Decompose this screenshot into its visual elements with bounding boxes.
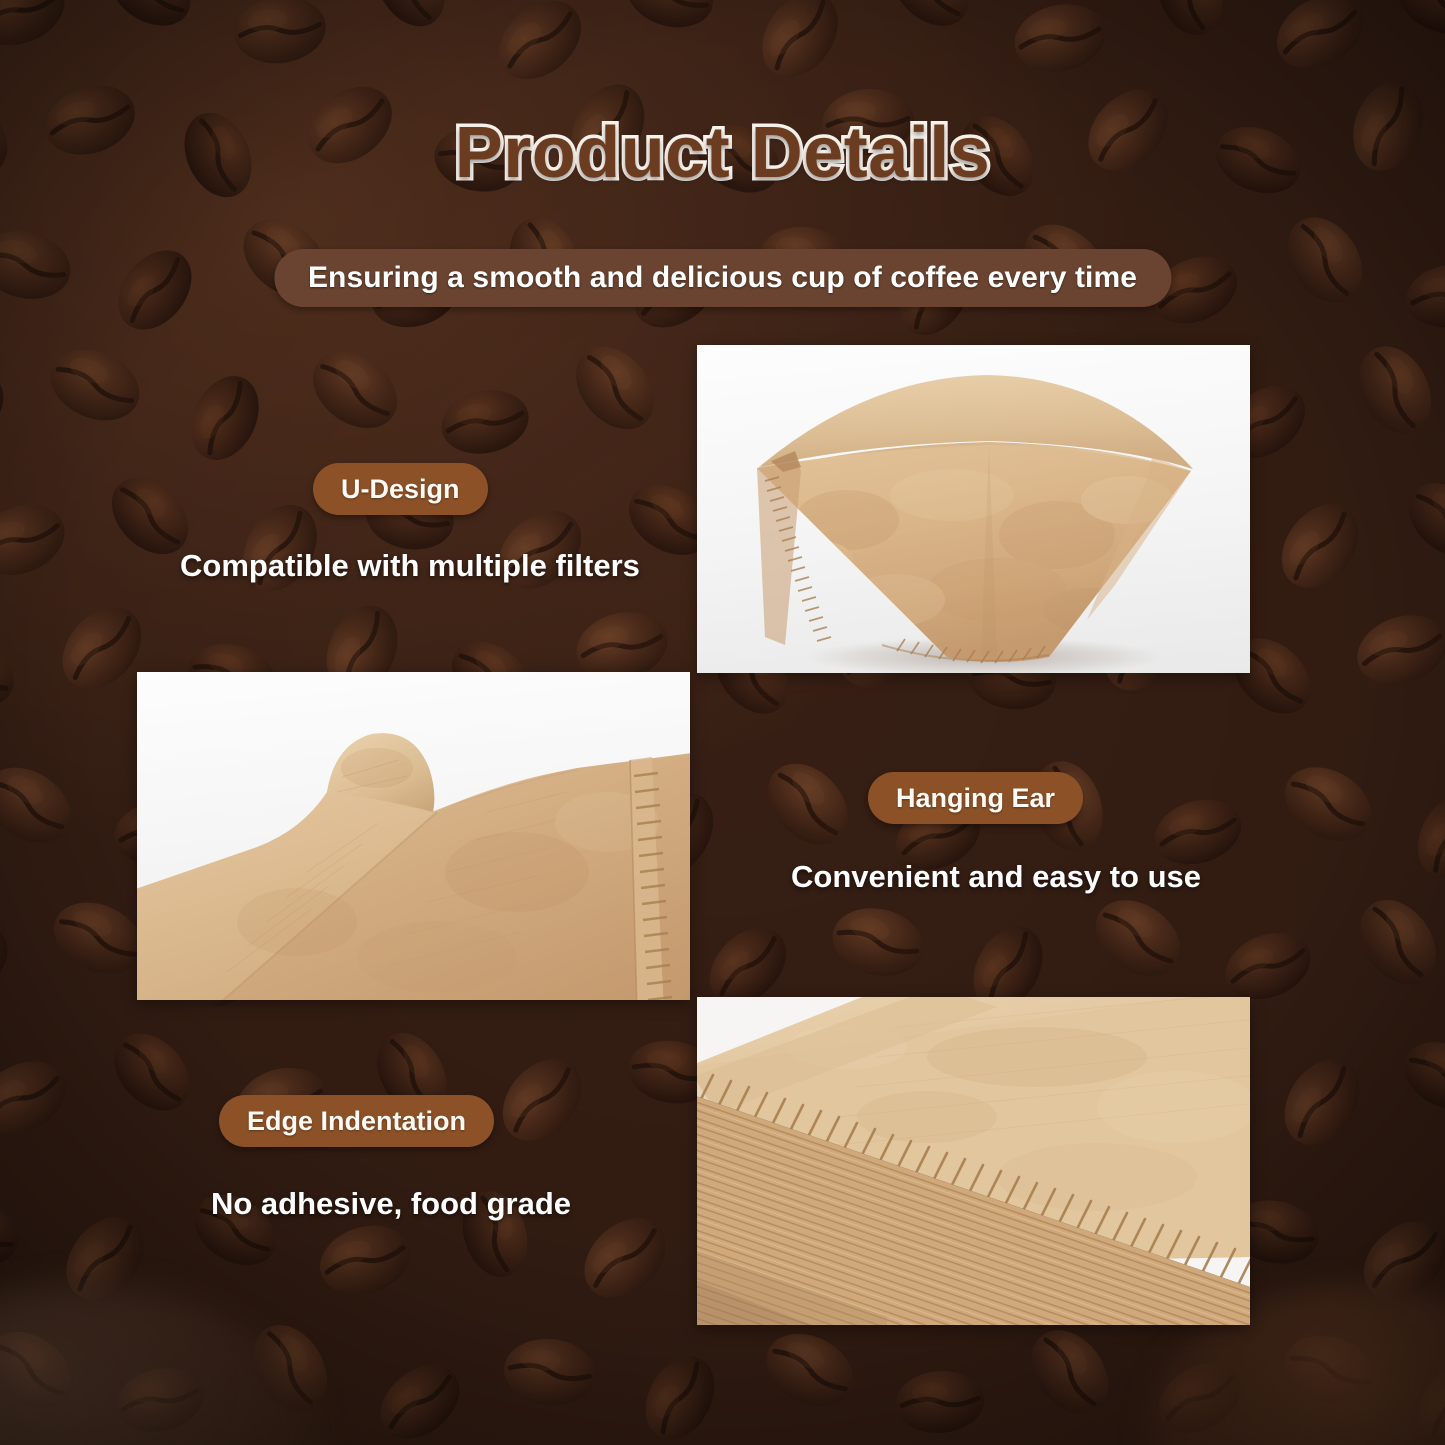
stacked-filters-edge-photo [697,997,1250,1325]
subtitle-text: Ensuring a smooth and delicious cup of c… [308,261,1137,295]
product-details-infographic: Product Details Ensuring a smooth and de… [0,0,1445,1445]
feature-label-text: U-Design [341,474,460,505]
feature-photo-panel-hanging-ear [137,672,690,1000]
feature-photo-panel-u-design [697,345,1250,673]
page-title: Product Details [0,112,1445,194]
feature-photo-panel-edge-indentation [697,997,1250,1325]
feature-label-text: Edge Indentation [247,1106,466,1137]
feature-description-hanging-ear: Convenient and easy to use [791,859,1201,895]
feature-label-text: Hanging Ear [896,783,1055,814]
feature-label-pill-edge-indentation: Edge Indentation [219,1095,494,1147]
subtitle-banner: Ensuring a smooth and delicious cup of c… [274,249,1171,307]
feature-description-u-design: Compatible with multiple filters [180,548,640,584]
feature-label-pill-u-design: U-Design [313,463,488,515]
cone-coffee-filter-photo [697,345,1250,673]
hanging-ear-tab-photo [137,672,690,1000]
feature-label-pill-hanging-ear: Hanging Ear [868,772,1083,824]
feature-description-edge-indentation: No adhesive, food grade [211,1186,571,1222]
